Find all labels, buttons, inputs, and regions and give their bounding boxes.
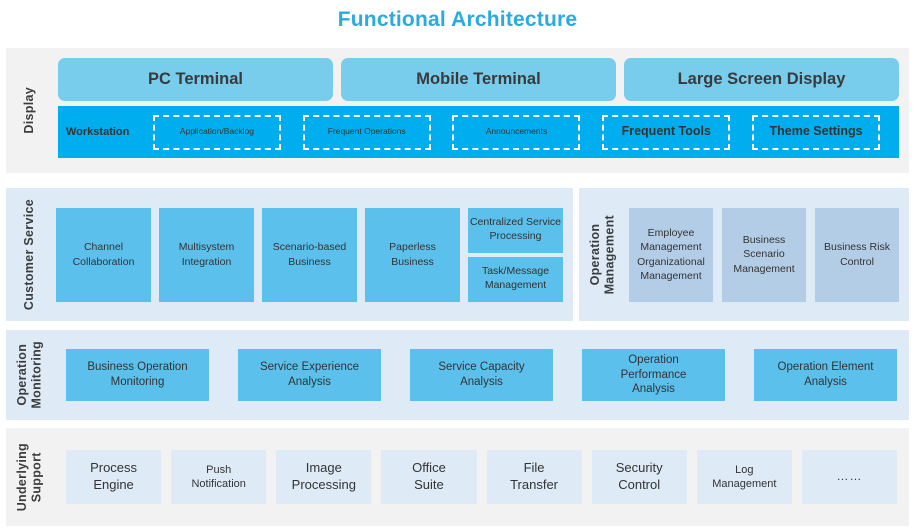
mon-item-service-capacity-analysis-label: Service Capacity Analysis [438,360,524,390]
workstation-item-application-backlog-label: Application/Backlog [180,127,254,136]
operation-management-label-text: Operation Management [588,215,617,294]
cs-item-paperless-business[interactable]: Paperless Business [365,208,460,302]
terminal-row: PC Terminal Mobile Terminal Large Screen… [58,58,899,101]
us-item-image-processing[interactable]: Image Processing [276,450,371,504]
workstation-item-frequent-tools[interactable]: Frequent Tools [602,115,730,150]
cs-item-channel-collaboration[interactable]: Channel Collaboration [56,208,151,302]
terminal-pc-label: PC Terminal [148,70,243,89]
om-item-business-risk-control[interactable]: Business Risk Control [815,208,899,302]
om-item-business-risk-control-label: Business Risk Control [824,240,890,268]
om-item-employee-management[interactable]: Employee Management Organizational Manag… [629,208,713,302]
workstation-cell: Application/Backlog [142,115,292,150]
us-item-push-notification[interactable]: Push Notification [171,450,266,504]
om-item-business-scenario-management-label: Business Scenario Management [733,233,794,276]
operation-monitoring-label: Operation Monitoring [6,330,52,420]
mon-item-service-experience-analysis[interactable]: Service Experience Analysis [238,349,381,401]
workstation-item-frequent-operations[interactable]: Frequent Operations [303,115,431,150]
cs-item-centralized-service-processing-label: Centralized Service Processing [470,216,561,243]
customer-service-layer: Customer Service Channel Collaboration M… [6,188,573,321]
us-item-push-notification-label: Push Notification [191,463,245,492]
mon-item-service-capacity-analysis[interactable]: Service Capacity Analysis [410,349,553,401]
cs-stacked-group: Centralized Service Processing Task/Mess… [468,208,563,302]
display-layer: Display PC Terminal Mobile Terminal Larg… [6,48,909,173]
terminal-mobile-label: Mobile Terminal [416,70,540,89]
underlying-support-label: Underlying Support [6,428,52,526]
mon-item-service-experience-analysis-label: Service Experience Analysis [260,360,359,390]
workstation-row: Workstation Application/Backlog Frequent… [58,106,899,158]
workstation-cell: Frequent Operations [292,115,442,150]
functional-architecture-diagram: Functional Architecture Display PC Termi… [0,0,915,532]
us-item-log-management-label: Log Management [712,463,776,492]
customer-service-label-text: Customer Service [22,199,36,310]
workstation-item-application-backlog[interactable]: Application/Backlog [153,115,281,150]
underlying-support-label-text: Underlying Support [15,443,44,511]
workstation-item-announcements[interactable]: Announcements [452,115,580,150]
mon-item-operation-element-analysis[interactable]: Operation Element Analysis [754,349,897,401]
cs-item-paperless-business-label: Paperless Business [389,240,436,268]
workstation-cell: Frequent Tools [591,115,741,150]
mon-item-operation-performance-analysis-label: Operation Performance Analysis [621,353,687,398]
terminal-mobile[interactable]: Mobile Terminal [341,58,616,101]
om-item-business-scenario-management[interactable]: Business Scenario Management [722,208,806,302]
us-item-file-transfer-label: File Transfer [510,460,558,494]
display-layer-label-text: Display [22,87,36,134]
service-and-management-row: Customer Service Channel Collaboration M… [6,188,909,321]
workstation-cell: Theme Settings [741,115,891,150]
workstation-item-theme-settings[interactable]: Theme Settings [752,115,880,150]
workstation-item-announcements-label: Announcements [486,127,547,136]
cs-item-task-message-management[interactable]: Task/Message Management [468,257,563,302]
mon-item-operation-performance-analysis[interactable]: Operation Performance Analysis [582,349,725,401]
us-item-file-transfer[interactable]: File Transfer [487,450,582,504]
us-item-log-management[interactable]: Log Management [697,450,792,504]
us-item-more-label: …… [836,469,862,485]
workstation-label: Workstation [64,126,142,138]
us-item-image-processing-label: Image Processing [292,460,356,494]
page-title: Functional Architecture [0,8,915,32]
workstation-item-frequent-tools-label: Frequent Tools [622,125,711,139]
cs-item-multisystem-integration-label: Multisystem Integration [179,240,234,268]
om-item-employee-management-label: Employee Management Organizational Manag… [637,226,705,283]
terminal-pc[interactable]: PC Terminal [58,58,333,101]
mon-item-business-operation-monitoring[interactable]: Business Operation Monitoring [66,349,209,401]
display-layer-label: Display [6,48,52,173]
cs-item-scenario-based-business[interactable]: Scenario-based Business [262,208,357,302]
cs-item-multisystem-integration[interactable]: Multisystem Integration [159,208,254,302]
us-item-process-engine[interactable]: Process Engine [66,450,161,504]
us-item-security-control[interactable]: Security Control [592,450,687,504]
workstation-item-frequent-operations-label: Frequent Operations [328,127,406,136]
cs-item-centralized-service-processing[interactable]: Centralized Service Processing [468,208,563,253]
cs-item-scenario-based-business-label: Scenario-based Business [273,240,347,268]
underlying-support-layer: Underlying Support Process Engine Push N… [6,428,909,526]
us-item-process-engine-label: Process Engine [90,460,137,494]
us-item-security-control-label: Security Control [616,460,663,494]
terminal-large-screen[interactable]: Large Screen Display [624,58,899,101]
mon-item-business-operation-monitoring-label: Business Operation Monitoring [87,360,187,390]
us-item-more[interactable]: …… [802,450,897,504]
us-item-office-suite[interactable]: Office Suite [381,450,476,504]
terminal-large-screen-label: Large Screen Display [678,70,846,89]
us-item-office-suite-label: Office Suite [412,460,446,494]
operation-monitoring-layer: Operation Monitoring Business Operation … [6,330,909,420]
operation-management-layer: Operation Management Employee Management… [579,188,909,321]
operation-monitoring-label-text: Operation Monitoring [15,341,44,409]
mon-item-operation-element-analysis-label: Operation Element Analysis [778,360,874,390]
workstation-cell: Announcements [442,115,592,150]
workstation-item-theme-settings-label: Theme Settings [770,125,863,139]
customer-service-label: Customer Service [6,188,52,321]
operation-management-label: Operation Management [579,188,625,321]
cs-item-task-message-management-label: Task/Message Management [482,265,549,292]
cs-item-channel-collaboration-label: Channel Collaboration [73,240,135,268]
